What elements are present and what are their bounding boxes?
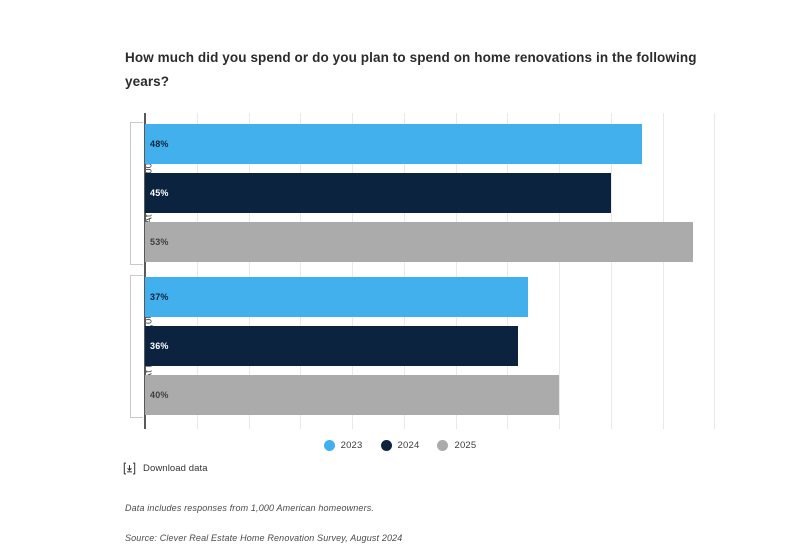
legend-swatch-icon [437,440,448,451]
footnote-source: Source: Clever Real Estate Home Renovati… [125,533,402,543]
bar-2025-at-least-5000[interactable]: 53% [145,222,693,262]
bar-value-label: 36% [150,341,169,351]
category-bracket-0: At least $5,000 [130,122,143,265]
legend-swatch-icon [381,440,392,451]
legend-label: 2025 [454,440,476,451]
chart-title: How much did you spend or do you plan to… [125,46,705,93]
legend-item-2025[interactable]: 2025 [437,440,476,451]
gridline [714,113,715,429]
download-data-label: Download data [143,463,208,474]
legend-swatch-icon [324,440,335,451]
download-data-button[interactable]: Download data [123,462,208,475]
legend-item-2023[interactable]: 2023 [324,440,363,451]
bar-value-label: 53% [150,237,169,247]
bar-2024-at-least-10000[interactable]: 36% [145,326,518,366]
category-axis: At least $5,000 At least $10,000 [118,113,144,429]
category-bracket-1: At least $10,000 [130,275,143,418]
gridline [663,113,664,429]
bar-2024-at-least-5000[interactable]: 45% [145,173,611,213]
bar-value-label: 40% [150,390,169,400]
bars-canvas: 48% 45% 53% 37% 36% 40% [145,113,738,429]
plot-area: At least $5,000 At least $10,000 48% [118,113,738,429]
bar-value-label: 45% [150,188,169,198]
bar-value-label: 48% [150,139,169,149]
footnote-sample-size: Data includes responses from 1,000 Ameri… [125,503,374,513]
legend-label: 2024 [398,440,420,451]
bar-2023-at-least-10000[interactable]: 37% [145,277,528,317]
legend-label: 2023 [341,440,363,451]
download-icon [123,462,136,475]
chart-legend: 2023 2024 2025 [0,440,800,451]
bar-value-label: 37% [150,292,169,302]
bar-2025-at-least-10000[interactable]: 40% [145,375,559,415]
legend-item-2024[interactable]: 2024 [381,440,420,451]
bar-2023-at-least-5000[interactable]: 48% [145,124,642,164]
chart-card: How much did you spend or do you plan to… [0,0,800,553]
